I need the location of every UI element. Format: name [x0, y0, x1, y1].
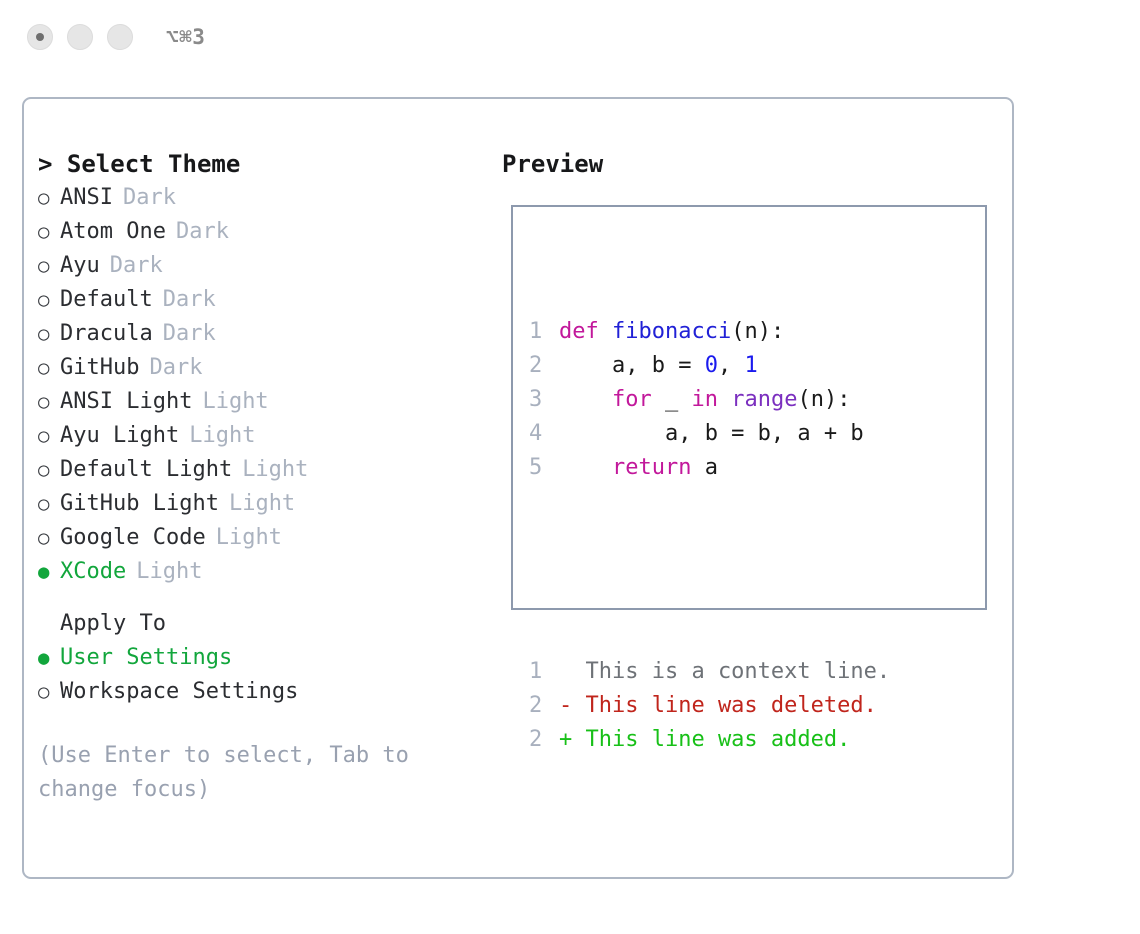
apply-to-list: ●User Settings○Workspace Settings	[38, 641, 478, 709]
line-number: 3	[529, 383, 559, 417]
radio-unselected-icon: ○	[38, 453, 60, 487]
code-token: a, b =	[559, 349, 705, 383]
apply-to-option[interactable]: ○Workspace Settings	[38, 675, 478, 709]
theme-option-tag: Dark	[163, 317, 216, 351]
code-token: ,	[718, 349, 745, 383]
preview-box: 1def fibonacci(n):2 a, b = 0, 13 for _ i…	[511, 205, 987, 610]
theme-option-tag: Dark	[110, 249, 163, 283]
code-token: fibonacci	[612, 315, 731, 349]
code-preview: 1def fibonacci(n):2 a, b = 0, 13 for _ i…	[529, 247, 890, 825]
theme-option[interactable]: ○Atom OneDark	[38, 215, 478, 249]
theme-picker-column: > Select Theme ○ANSIDark○Atom OneDark○Ay…	[38, 147, 478, 807]
radio-unselected-icon: ○	[38, 521, 60, 555]
theme-option-tag: Light	[242, 453, 308, 487]
code-token: return	[612, 451, 691, 485]
code-token: in	[691, 383, 718, 417]
theme-option-name: Google Code	[60, 521, 206, 555]
radio-unselected-icon: ○	[38, 283, 60, 317]
theme-option-name: ANSI Light	[60, 385, 192, 419]
diff-line: 2+ This line was added.	[529, 723, 890, 757]
theme-option[interactable]: ○Default LightLight	[38, 453, 478, 487]
code-line: 5 return a	[529, 451, 890, 485]
theme-option-name: ANSI	[60, 181, 113, 215]
theme-option-tag: Light	[202, 385, 268, 419]
title-bar: ⌥⌘3	[0, 0, 1140, 78]
main-panel: > Select Theme ○ANSIDark○Atom OneDark○Ay…	[22, 97, 1014, 879]
apply-to-option-name: Workspace Settings	[60, 675, 298, 709]
window-dot-active[interactable]	[27, 24, 53, 50]
theme-option-tag: Light	[136, 555, 202, 589]
theme-option[interactable]: ○DraculaDark	[38, 317, 478, 351]
radio-unselected-icon: ○	[38, 487, 60, 521]
apply-to-heading-row: Apply To	[38, 607, 478, 641]
diff-sample: 1 This is a context line.2- This line wa…	[529, 655, 890, 757]
code-token	[718, 383, 731, 417]
theme-option[interactable]: ●XCodeLight	[38, 555, 478, 589]
radio-unselected-icon: ○	[38, 675, 60, 709]
theme-option-tag: Dark	[176, 215, 229, 249]
code-line: 2 a, b = 0, 1	[529, 349, 890, 383]
theme-option-name: Dracula	[60, 317, 153, 351]
code-token: _	[652, 383, 692, 417]
preview-column: Preview	[502, 147, 1002, 181]
apply-to-heading: Apply To	[60, 607, 166, 641]
theme-option-name: Ayu	[60, 249, 100, 283]
line-number: 5	[529, 451, 559, 485]
code-line: 1def fibonacci(n):	[529, 315, 890, 349]
apply-to-option[interactable]: ●User Settings	[38, 641, 478, 675]
code-token: 1	[744, 349, 757, 383]
keyboard-hint: (Use Enter to select, Tab to change focu…	[38, 739, 458, 807]
window-dot-2[interactable]	[67, 24, 93, 50]
radio-selected-icon: ●	[38, 641, 60, 675]
code-token: (n):	[797, 383, 850, 417]
theme-option-tag: Dark	[149, 351, 202, 385]
theme-option-name: GitHub Light	[60, 487, 219, 521]
radio-unselected-icon: ○	[38, 419, 60, 453]
code-token: This is a context line.	[559, 655, 890, 689]
line-number: 1	[529, 315, 559, 349]
radio-unselected-icon: ○	[38, 181, 60, 215]
code-gap	[529, 553, 890, 587]
line-number: 1	[529, 655, 559, 689]
theme-option-tag: Dark	[123, 181, 176, 215]
radio-unselected-icon: ○	[38, 249, 60, 283]
theme-option-name: Default	[60, 283, 153, 317]
theme-option[interactable]: ○Ayu LightLight	[38, 419, 478, 453]
app-window: ⌥⌘3 > Select Theme ○ANSIDark○Atom OneDar…	[0, 0, 1140, 934]
window-dot-3[interactable]	[107, 24, 133, 50]
theme-option-name: Ayu Light	[60, 419, 179, 453]
theme-option-tag: Light	[229, 487, 295, 521]
line-number: 2	[529, 723, 559, 757]
line-number: 2	[529, 349, 559, 383]
code-token: a	[691, 451, 718, 485]
theme-option[interactable]: ○ANSI LightLight	[38, 385, 478, 419]
code-token: for	[612, 383, 652, 417]
code-token: range	[731, 383, 797, 417]
code-token	[559, 383, 612, 417]
theme-option[interactable]: ○Google CodeLight	[38, 521, 478, 555]
theme-option-tag: Dark	[163, 283, 216, 317]
radio-unselected-icon: ○	[38, 317, 60, 351]
code-token: 0	[705, 349, 718, 383]
radio-unselected-icon: ○	[38, 351, 60, 385]
theme-option[interactable]: ○AyuDark	[38, 249, 478, 283]
theme-option[interactable]: ○GitHubDark	[38, 351, 478, 385]
code-token: - This line was deleted.	[559, 689, 877, 723]
code-token: + This line was added.	[559, 723, 850, 757]
theme-option-tag: Light	[189, 419, 255, 453]
radio-selected-icon: ●	[38, 555, 60, 589]
code-line: 3 for _ in range(n):	[529, 383, 890, 417]
line-number: 4	[529, 417, 559, 451]
line-number: 2	[529, 689, 559, 723]
code-token: (n):	[731, 315, 784, 349]
keyboard-shortcut-label: ⌥⌘3	[166, 24, 205, 50]
apply-to-option-name: User Settings	[60, 641, 232, 675]
code-token	[559, 451, 612, 485]
preview-heading: Preview	[502, 147, 1002, 181]
diff-line: 2- This line was deleted.	[529, 689, 890, 723]
theme-option[interactable]: ○GitHub LightLight	[38, 487, 478, 521]
theme-option-name: XCode	[60, 555, 126, 589]
code-token: a, b = b, a + b	[559, 417, 864, 451]
theme-list: ○ANSIDark○Atom OneDark○AyuDark○DefaultDa…	[38, 181, 478, 589]
code-token: def	[559, 315, 612, 349]
select-theme-heading: > Select Theme	[38, 147, 478, 181]
window-controls	[27, 24, 133, 50]
diff-line: 1 This is a context line.	[529, 655, 890, 689]
theme-option-name: Atom One	[60, 215, 166, 249]
theme-option-name: GitHub	[60, 351, 139, 385]
code-line: 4 a, b = b, a + b	[529, 417, 890, 451]
theme-option-name: Default Light	[60, 453, 232, 487]
radio-unselected-icon: ○	[38, 215, 60, 249]
theme-option[interactable]: ○ANSIDark	[38, 181, 478, 215]
theme-option-tag: Light	[216, 521, 282, 555]
code-sample: 1def fibonacci(n):2 a, b = 0, 13 for _ i…	[529, 315, 890, 485]
radio-unselected-icon: ○	[38, 385, 60, 419]
theme-option[interactable]: ○DefaultDark	[38, 283, 478, 317]
